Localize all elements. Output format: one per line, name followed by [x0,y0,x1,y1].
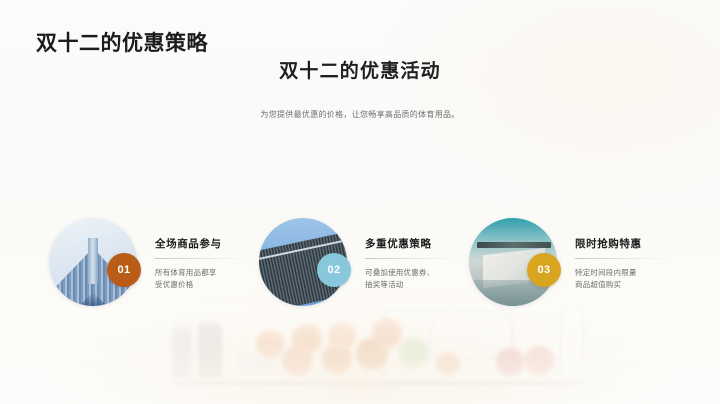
card-divider [575,258,671,259]
page-title: 双十二的优惠活动 [0,56,720,83]
card-description-line: 可叠加使用优惠券、 [365,267,470,279]
card-divider [365,258,461,259]
page-subtitle: 为您提供最优惠的价格，让您畅享高品质的体育用品。 [0,109,720,120]
card-title: 限时抢购特惠 [575,236,680,251]
card-number-badge: 01 [107,253,141,287]
card-description-line: 特定时间段内限量 [575,267,680,279]
card-description: 可叠加使用优惠券、 抽奖等活动 [365,267,470,292]
card-text-block: 限时抢购特惠 特定时间段内限量 商品超值购买 [575,236,680,292]
slide-canvas: 双十二的优惠策略 双十二的优惠活动 为您提供最优惠的价格，让您畅享高品质的体育用… [0,0,720,404]
card-title: 多重优惠策略 [365,236,470,251]
card-number-badge: 03 [527,253,561,287]
card-text-block: 全场商品参与 所有体育用品都享 受优惠价格 [155,236,260,292]
photo-beam-layer [477,242,551,248]
card-description-line: 受优惠价格 [155,279,260,291]
feature-card[interactable]: 01 全场商品参与 所有体育用品都享 受优惠价格 [45,214,260,319]
card-divider [155,258,251,259]
card-title: 全场商品参与 [155,236,260,251]
photo-spire-layer [88,238,98,284]
feature-card[interactable]: 02 多重优惠策略 可叠加使用优惠券、 抽奖等活动 [255,214,470,319]
feature-card-list: 01 全场商品参与 所有体育用品都享 受优惠价格 02 多 [0,214,720,324]
corner-title: 双十二的优惠策略 [36,27,208,57]
card-text-block: 多重优惠策略 可叠加使用优惠券、 抽奖等活动 [365,236,470,292]
card-description: 特定时间段内限量 商品超值购买 [575,267,680,292]
feature-card[interactable]: 03 限时抢购特惠 特定时间段内限量 商品超值购买 [465,214,680,319]
card-number-badge: 02 [317,253,351,287]
card-description: 所有体育用品都享 受优惠价格 [155,267,260,292]
card-description-line: 商品超值购买 [575,279,680,291]
card-description-line: 抽奖等活动 [365,279,470,291]
card-description-line: 所有体育用品都享 [155,267,260,279]
